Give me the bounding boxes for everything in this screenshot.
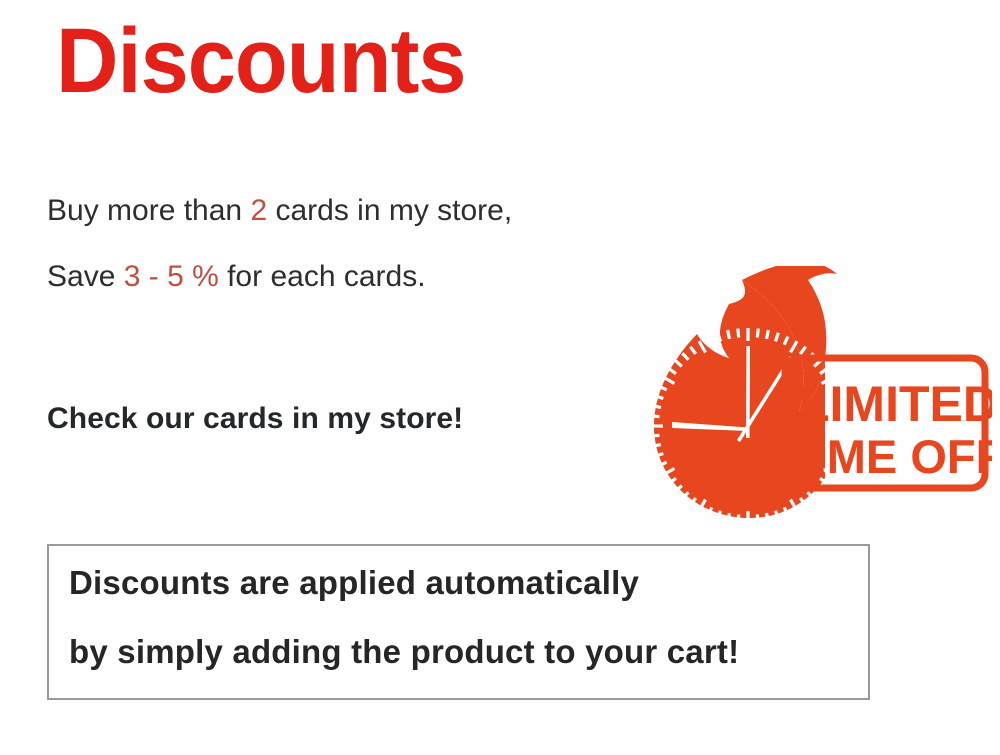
note-line-2: by simply adding the product to your car… (69, 635, 858, 668)
discount-promo-page: Discounts Buy more than 2 cards in my st… (0, 0, 1000, 755)
discount-description: Buy more than 2 cards in my store, Save … (47, 196, 687, 328)
rule2-percent-accent: 3 - 5 % (124, 260, 219, 293)
limited-time-offer-badge: LIMITED TIME OFFER (596, 266, 992, 522)
rule1-text-after: cards in my store, (267, 194, 512, 227)
rule1-text-before: Buy more than (47, 194, 250, 227)
page-title: Discounts (56, 15, 466, 107)
note-line-1: Discounts are applied automatically (69, 566, 858, 599)
offer-line-1: LIMITED (799, 376, 992, 432)
auto-discount-note-box: Discounts are applied automatically by s… (47, 544, 870, 700)
rule2-text-before: Save (47, 260, 124, 293)
discount-rule-line-2: Save 3 - 5 % for each cards. (47, 262, 687, 292)
offer-line-2: TIME OFFER (785, 430, 992, 483)
rule2-text-after: for each cards. (219, 260, 426, 293)
discount-rule-line-1: Buy more than 2 cards in my store, (47, 196, 687, 226)
store-cta-text: Check our cards in my store! (47, 402, 463, 436)
rule1-quantity-accent: 2 (250, 194, 267, 227)
offer-text-box: LIMITED TIME OFFER (785, 358, 992, 488)
